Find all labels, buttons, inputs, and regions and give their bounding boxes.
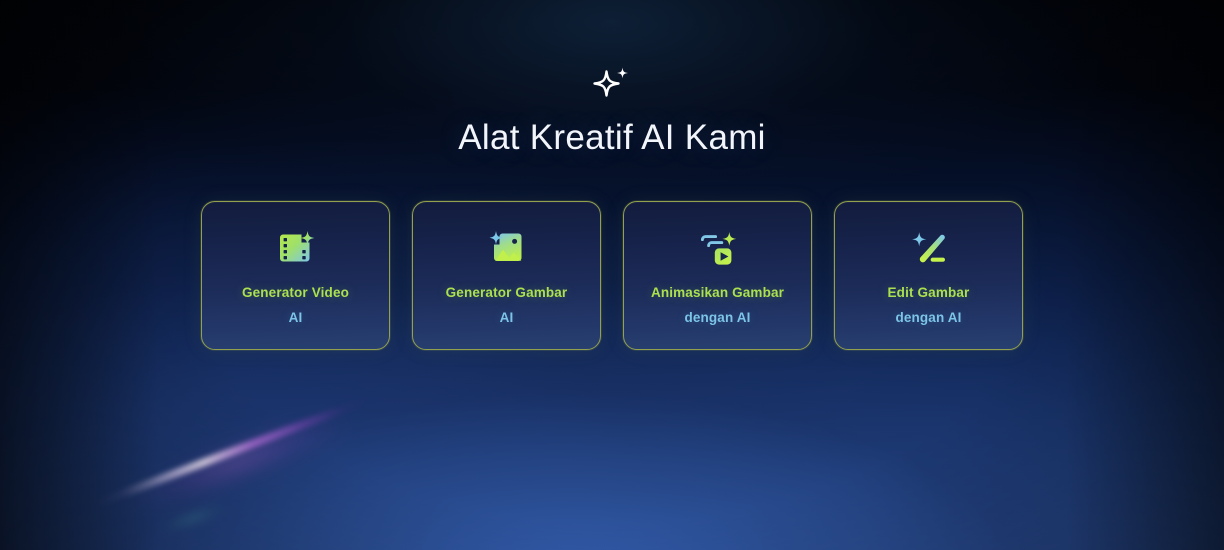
- image-sparkle-icon: [487, 228, 527, 268]
- tool-card-label-line2: dengan AI: [835, 305, 1022, 330]
- tool-card-label: Generator Video AI: [202, 280, 389, 330]
- film-strip-sparkle-icon: [276, 228, 316, 268]
- stacked-frames-play-sparkle-icon: [698, 228, 738, 268]
- tool-card-label-line2: AI: [202, 305, 389, 330]
- tool-card-image-generator[interactable]: Generator Gambar AI: [412, 201, 601, 350]
- tool-card-label: Animasikan Gambar dengan AI: [624, 280, 811, 330]
- tool-card-label-line2: dengan AI: [624, 305, 811, 330]
- tool-card-animate-image[interactable]: Animasikan Gambar dengan AI: [623, 201, 812, 350]
- tool-card-video-generator[interactable]: Generator Video AI: [201, 201, 390, 350]
- sparkle-star-icon: [589, 64, 635, 110]
- page-title: Alat Kreatif AI Kami: [0, 118, 1224, 158]
- tool-card-label-line1: Animasikan Gambar: [624, 280, 811, 305]
- ai-tools-section: Alat Kreatif AI Kami: [0, 0, 1224, 550]
- tool-cards-row: Generator Video AI: [201, 201, 1023, 350]
- tool-card-label: Generator Gambar AI: [413, 280, 600, 330]
- tool-card-label-line1: Edit Gambar: [835, 280, 1022, 305]
- tool-card-edit-image[interactable]: Edit Gambar dengan AI: [834, 201, 1023, 350]
- magic-wand-sparkle-icon: [909, 228, 949, 268]
- tool-card-label-line1: Generator Gambar: [413, 280, 600, 305]
- tool-card-label: Edit Gambar dengan AI: [835, 280, 1022, 330]
- tool-card-label-line1: Generator Video: [202, 280, 389, 305]
- tool-card-label-line2: AI: [413, 305, 600, 330]
